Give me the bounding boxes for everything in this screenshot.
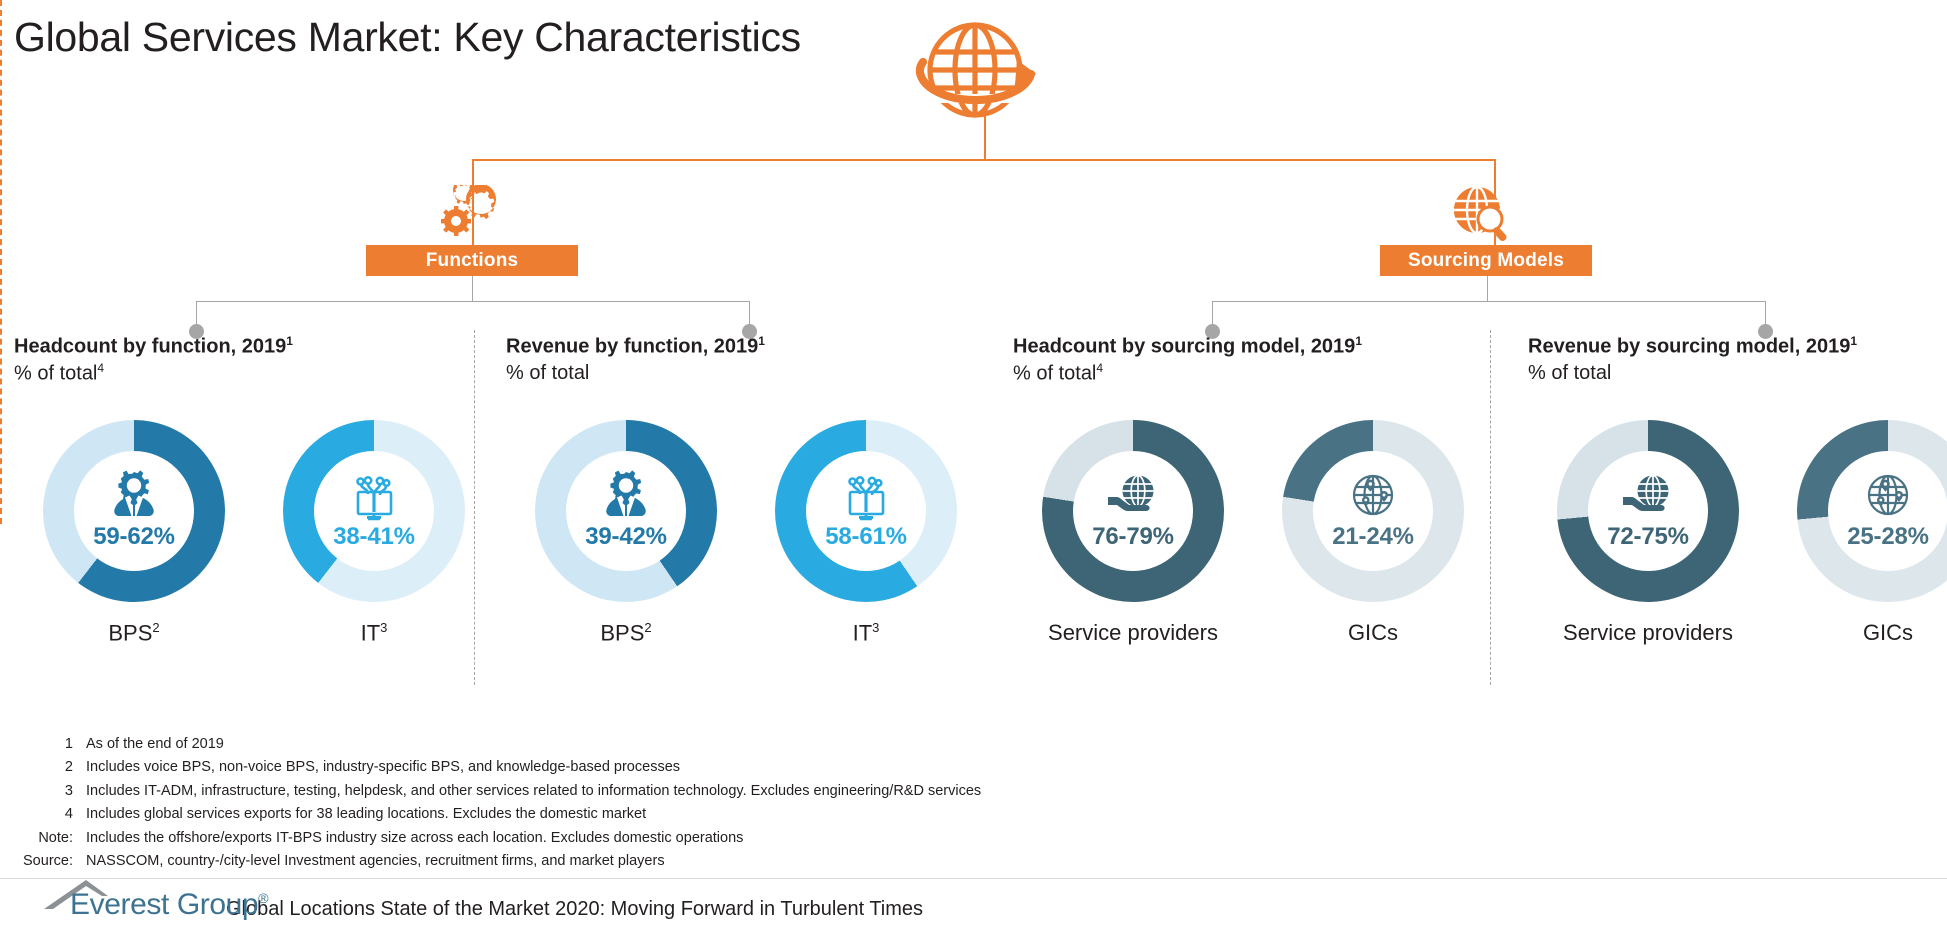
donut-label: GICs <box>1348 620 1398 646</box>
logo-name: Everest Group <box>70 888 258 921</box>
chart-title: Headcount by sourcing model, 20191 <box>1013 334 1362 359</box>
gears-icon <box>434 185 508 243</box>
person-gear-icon <box>103 470 165 522</box>
footnotes: 1As of the end of 20192Includes voice BP… <box>18 733 1218 874</box>
footnote-text: Includes IT-ADM, infrastructure, testing… <box>86 780 981 803</box>
chart-group-4: Revenue by sourcing model, 20191% of tot… <box>1528 334 1857 385</box>
monitor-circuit-icon <box>343 470 405 522</box>
globe-search-icon <box>1448 183 1522 241</box>
footnote-key: 2 <box>18 756 86 779</box>
footnote-key: 1 <box>18 733 86 756</box>
donut-cell: 25-28%GICs <box>1768 420 1947 646</box>
donut-label: BPS2 <box>108 620 159 646</box>
donut-center: 38-41% <box>314 451 434 571</box>
chart-title: Headcount by function, 20191 <box>14 334 293 359</box>
chart-title: Revenue by function, 20191 <box>506 334 765 359</box>
donut-chart[interactable]: 39-42% <box>535 420 717 602</box>
chart-group-3: Headcount by sourcing model, 20191% of t… <box>1013 334 1362 386</box>
donut-cell: 72-75%Service providers <box>1528 420 1768 646</box>
footer: Everest Group® Global Locations State of… <box>24 885 923 927</box>
donut-cell: 21-24%GICs <box>1253 420 1493 646</box>
donut-row: 76-79%Service providers 21-24%GICs <box>1013 420 1493 646</box>
donut-row: 59-62%BPS2 38-41%IT3 <box>14 420 494 646</box>
donut-cell: 39-42%BPS2 <box>506 420 746 646</box>
donut-value: 25-28% <box>1847 523 1929 551</box>
category-box-sourcing-models[interactable]: Sourcing Models <box>1380 245 1592 276</box>
donut-value: 39-42% <box>585 523 667 551</box>
category-box-functions[interactable]: Functions <box>366 245 578 276</box>
hand-globe-icon <box>1617 470 1679 522</box>
donut-chart[interactable]: 25-28% <box>1797 420 1947 602</box>
footnote-text: Includes global services exports for 38 … <box>86 803 646 826</box>
monitor-circuit-icon <box>835 470 897 522</box>
donut-label: IT3 <box>853 620 880 646</box>
donut-cell: 59-62%BPS2 <box>14 420 254 646</box>
donut-value: 59-62% <box>93 523 175 551</box>
logo-text: Everest Group® <box>70 888 268 922</box>
donut-chart[interactable]: 76-79% <box>1042 420 1224 602</box>
footnote-row: 4Includes global services exports for 38… <box>18 803 1218 826</box>
donut-center: 21-24% <box>1313 451 1433 571</box>
chart-subtitle: % of total <box>1528 361 1857 385</box>
footnote-key: 4 <box>18 803 86 826</box>
footnote-text: Includes voice BPS, non-voice BPS, indus… <box>86 756 680 779</box>
footnote-key: 3 <box>18 780 86 803</box>
footnote-row: 3Includes IT-ADM, infrastructure, testin… <box>18 780 1218 803</box>
globe-pins-icon <box>1342 470 1404 522</box>
donut-chart[interactable]: 59-62% <box>43 420 225 602</box>
footer-divider <box>0 878 1947 879</box>
donut-chart[interactable]: 58-61% <box>775 420 957 602</box>
donut-row: 39-42%BPS2 58-61%IT3 <box>506 420 986 646</box>
donut-label: Service providers <box>1563 620 1733 646</box>
donut-cell: 76-79%Service providers <box>1013 420 1253 646</box>
everest-group-logo: Everest Group® <box>24 885 229 927</box>
donut-value: 38-41% <box>333 523 415 551</box>
person-gear-icon <box>595 470 657 522</box>
donut-chart[interactable]: 21-24% <box>1282 420 1464 602</box>
logo-registered-mark: ® <box>258 890 268 906</box>
connector-gray-stem-left <box>472 276 473 302</box>
chart-title: Revenue by sourcing model, 20191 <box>1528 334 1857 359</box>
donut-cell: 58-61%IT3 <box>746 420 986 646</box>
donut-center: 76-79% <box>1073 451 1193 571</box>
footnote-row: Note:Includes the offshore/exports IT-BP… <box>18 827 1218 850</box>
donut-value: 72-75% <box>1607 523 1689 551</box>
page-title: Global Services Market: Key Characterist… <box>14 14 801 61</box>
footnote-row: Source:NASSCOM, country-/city-level Inve… <box>18 850 1218 873</box>
footnote-text: NASSCOM, country-/city-level Investment … <box>86 850 665 873</box>
donut-value: 76-79% <box>1092 523 1174 551</box>
connector-orange-stem <box>984 116 986 160</box>
connector-gray-stem-right <box>1487 276 1488 302</box>
donut-label: IT3 <box>361 620 388 646</box>
connector-gray-hbar-left <box>196 301 749 302</box>
donut-value: 21-24% <box>1332 523 1414 551</box>
donut-label: BPS2 <box>600 620 651 646</box>
donut-row: 72-75%Service providers 25-28%GICs <box>1528 420 1947 646</box>
donut-label: Service providers <box>1048 620 1218 646</box>
footnote-row: 2Includes voice BPS, non-voice BPS, indu… <box>18 756 1218 779</box>
chart-subtitle: % of total4 <box>1013 361 1362 386</box>
connector-orange-hbar <box>472 159 1496 161</box>
footnote-key: Note: <box>18 827 86 850</box>
donut-center: 39-42% <box>566 451 686 571</box>
footnote-text: As of the end of 2019 <box>86 733 224 756</box>
donut-center: 59-62% <box>74 451 194 571</box>
chart-subtitle: % of total4 <box>14 361 293 386</box>
donut-cell: 38-41%IT3 <box>254 420 494 646</box>
chart-subtitle: % of total <box>506 361 765 385</box>
hand-globe-icon <box>1102 470 1164 522</box>
donut-center: 72-75% <box>1588 451 1708 571</box>
connector-gray-hbar-right <box>1212 301 1765 302</box>
globe-icon <box>905 18 1045 133</box>
donut-center: 25-28% <box>1828 451 1947 571</box>
chart-group-1: Headcount by function, 20191% of total4 … <box>14 334 293 386</box>
footnote-key: Source: <box>18 850 86 873</box>
donut-label: GICs <box>1863 620 1913 646</box>
footnote-row: 1As of the end of 2019 <box>18 733 1218 756</box>
footer-report-title: Global Locations State of the Market 202… <box>226 898 923 927</box>
globe-pins-icon <box>1857 470 1919 522</box>
donut-chart[interactable]: 72-75% <box>1557 420 1739 602</box>
divider-center-dashed <box>0 0 2 524</box>
donut-value: 58-61% <box>825 523 907 551</box>
footnote-text: Includes the offshore/exports IT-BPS ind… <box>86 827 743 850</box>
chart-group-2: Revenue by function, 20191% of total 39-… <box>506 334 765 385</box>
donut-center: 58-61% <box>806 451 926 571</box>
donut-chart[interactable]: 38-41% <box>283 420 465 602</box>
